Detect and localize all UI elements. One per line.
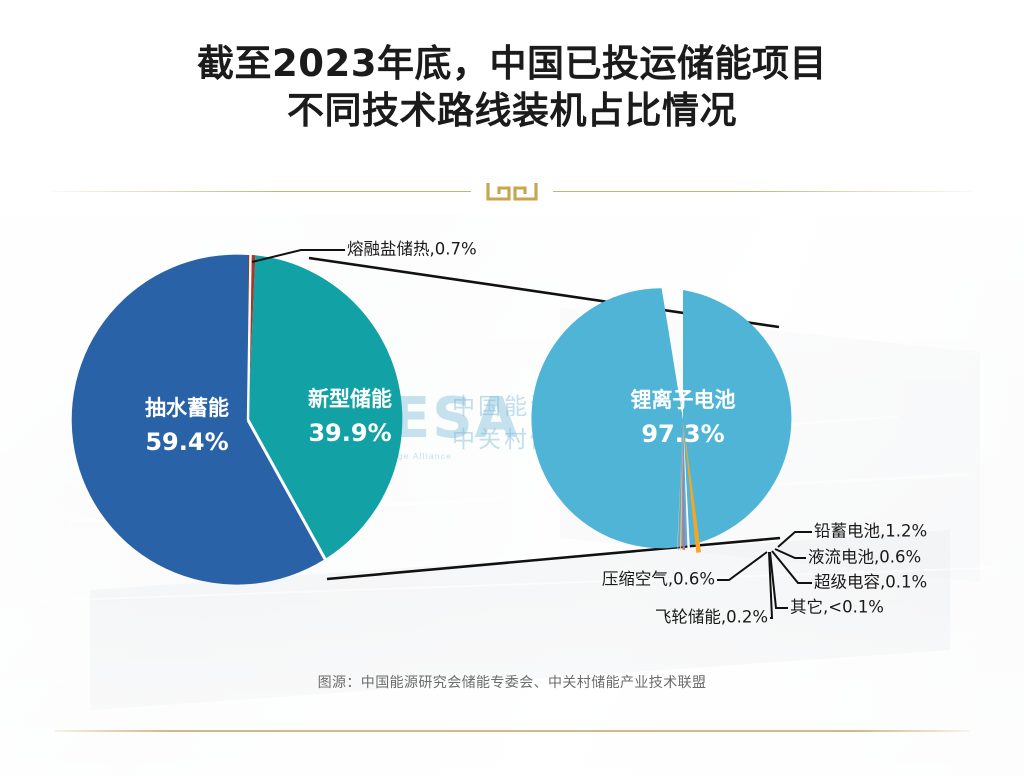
slice-lithium-ion[interactable] (531, 288, 791, 548)
greek-key-ornament (485, 179, 539, 203)
callouts-right-pie-left-side: 压缩空气,0.6% 飞轮储能,0.2% (602, 552, 772, 627)
left-pie-label-pumped-hydro-name: 抽水蓄能 (145, 396, 229, 420)
header: 截至2023年底，中国已投运储能项目 不同技术路线装机占比情况 (0, 0, 1024, 135)
callout-molten-salt-label: 熔融盐储热,0.7% (347, 240, 477, 259)
callout-flow-battery-leader (775, 549, 806, 558)
pie-overall: 抽水蓄能 59.4% 新型储能 39.9% (72, 255, 403, 585)
left-pie-label-new-type-value: 39.9% (308, 419, 391, 447)
callout-supercap-label: 超级电容,0.1% (814, 573, 927, 592)
left-pie-label-new-type-name: 新型储能 (308, 387, 392, 411)
callouts-right: 铅蓄电池,1.2% 液流电池,0.6% 超级电容,0.1% 其它,<0.1% (770, 522, 927, 617)
page-title: 截至2023年底，中国已投运储能项目 不同技术路线装机占比情况 (0, 0, 1024, 135)
pie-new-type-breakdown: 锂离子电池 97.3% (531, 288, 791, 553)
callout-compressed-air-label: 压缩空气,0.6% (602, 570, 715, 589)
footer-gold-rule (55, 730, 969, 732)
callout-lead-acid-label: 铅蓄电池,1.2% (814, 522, 927, 541)
divider-rule-left (50, 191, 471, 192)
title-divider (50, 178, 974, 204)
callout-lead-acid-leader (778, 532, 812, 547)
right-pie-label-lithium-name: 锂离子电池 (631, 388, 736, 412)
callout-flow-battery-label: 液流电池,0.6% (808, 548, 921, 567)
left-pie-label-pumped-hydro-value: 59.4% (145, 428, 228, 456)
callout-compressed-air-leader (717, 552, 767, 580)
callout-molten-salt: 熔融盐储热,0.7% (252, 240, 477, 263)
source-caption: 图源：中国能源研究会储能专委会、中关村储能产业技术联盟 (0, 672, 1024, 692)
page-title-line-1: 截至2023年底，中国已投运储能项目 (0, 40, 1024, 87)
page-title-line-2: 不同技术路线装机占比情况 (0, 87, 1024, 134)
divider-rule-right (553, 191, 974, 192)
callout-flywheel-label: 飞轮储能,0.2% (655, 608, 768, 627)
callout-other-label: 其它,<0.1% (790, 598, 884, 617)
right-pie-label-lithium-value: 97.3% (641, 420, 724, 448)
